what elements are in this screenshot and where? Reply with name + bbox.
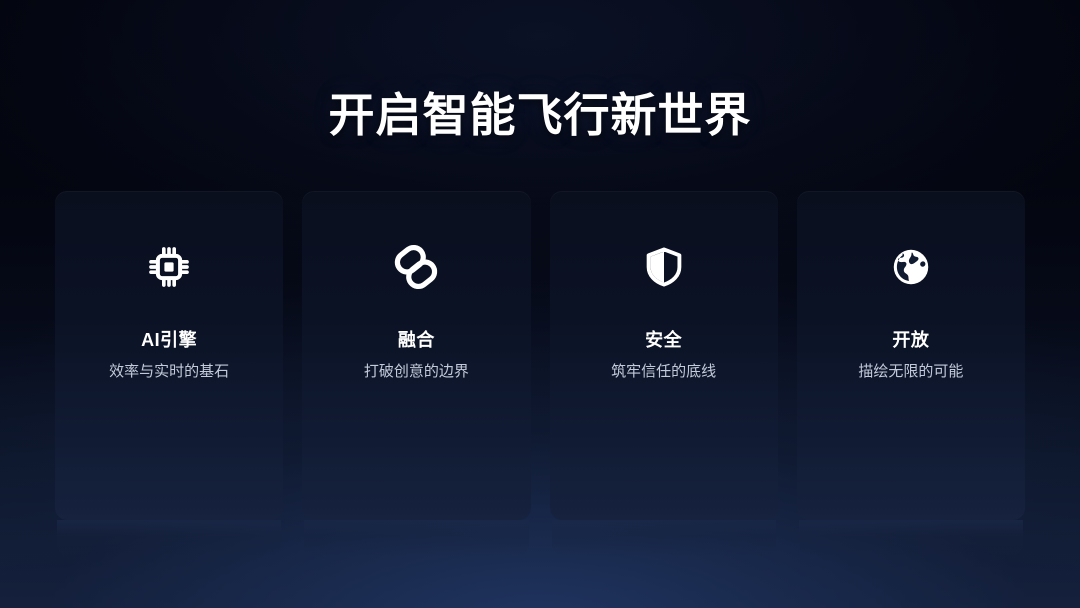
feature-card-security[interactable]: 安全 筑牢信任的底线 [550,191,778,520]
feature-card-ai-engine[interactable]: AI引擎 效率与实时的基石 [55,191,283,520]
cpu-chip-icon [55,243,283,291]
shield-icon [550,243,778,291]
feature-card-description: 描绘无限的可能 [797,361,1025,383]
feature-card-open[interactable]: 开放 描绘无限的可能 [797,191,1025,520]
page-title: 开启智能飞行新世界 [0,86,1080,144]
feature-card-description: 效率与实时的基石 [55,361,283,383]
feature-card-description: 打破创意的边界 [302,361,530,383]
feature-card-description: 筑牢信任的底线 [550,361,778,383]
feature-card-title: AI引擎 [55,328,283,352]
feature-card-title: 安全 [550,328,778,352]
linked-rings-icon [302,243,530,291]
presentation-slide: 开启智能飞行新世界 [0,0,1080,608]
globe-icon [797,243,1025,291]
feature-card-row: AI引擎 效率与实时的基石 融合 打破创意的边界 [55,191,1025,520]
feature-card-title: 开放 [797,328,1025,352]
feature-card-fusion[interactable]: 融合 打破创意的边界 [302,191,530,520]
feature-card-title: 融合 [302,328,530,352]
